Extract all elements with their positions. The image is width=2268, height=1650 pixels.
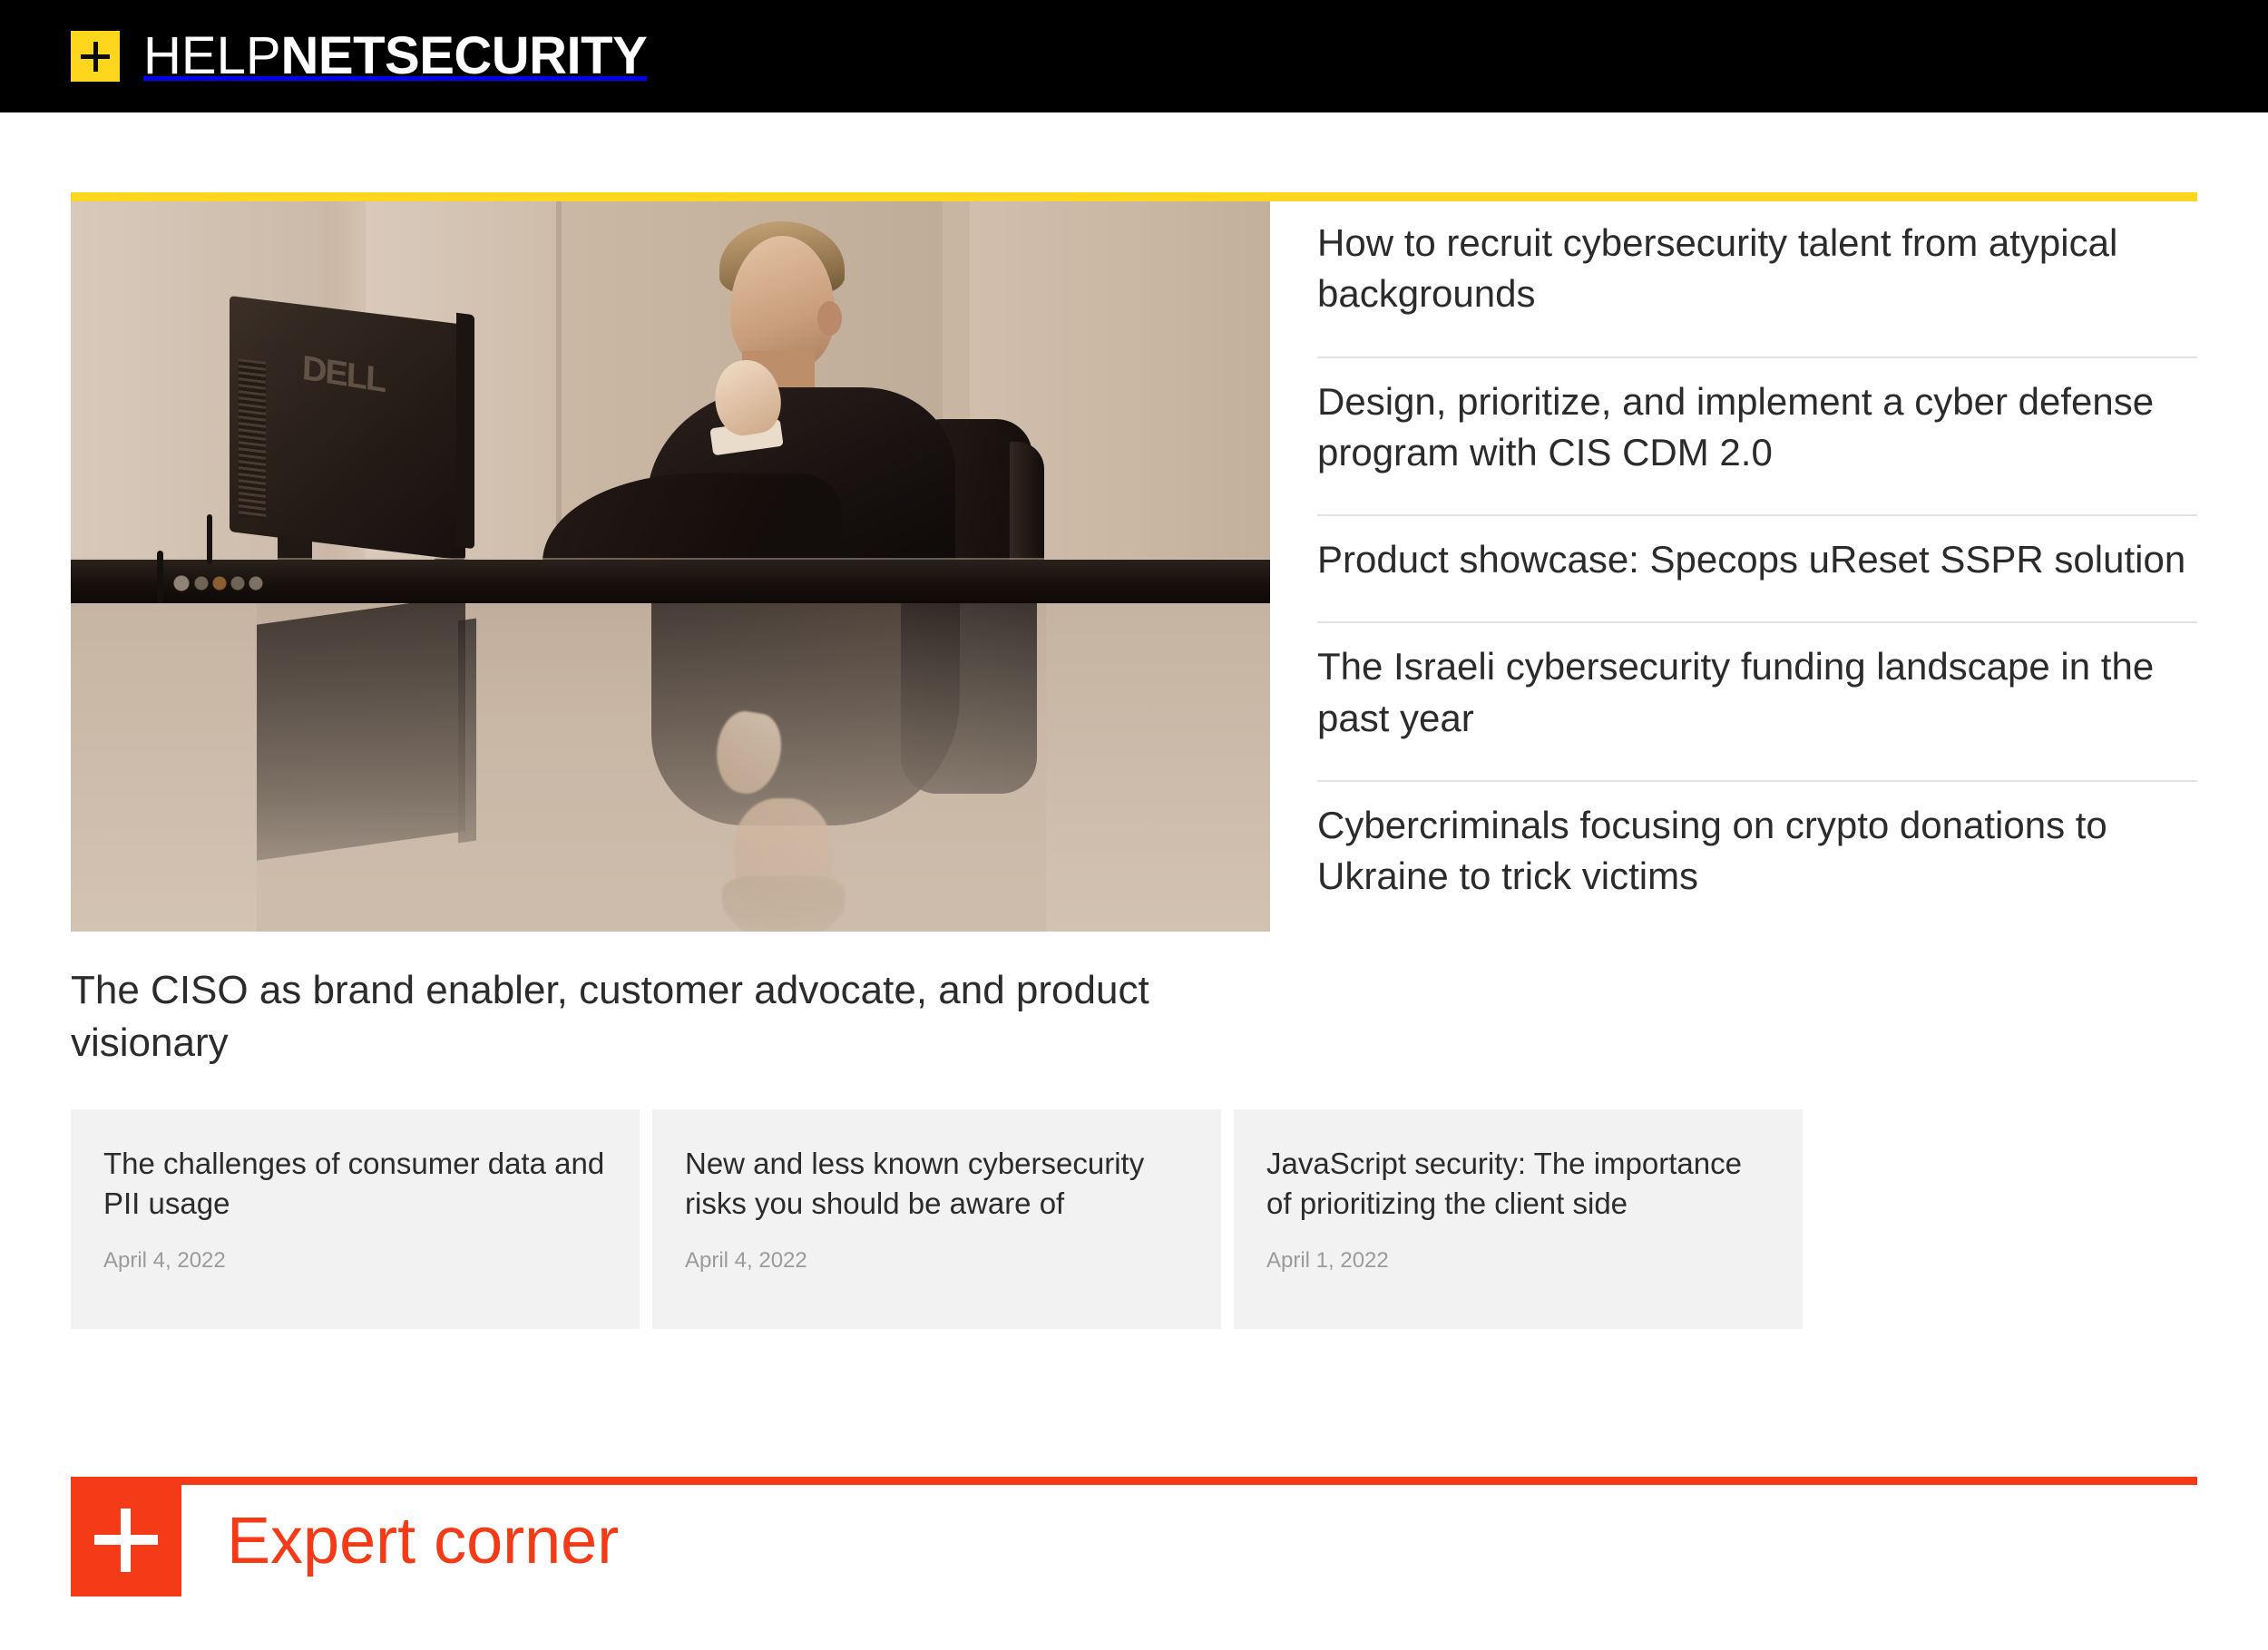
news-card-date: April 4, 2022 — [685, 1248, 1188, 1274]
side-article-item[interactable]: Design, prioritize, and implement a cybe… — [1317, 358, 2197, 517]
side-article-item[interactable]: Cybercriminals focusing on crypto donati… — [1317, 782, 2197, 903]
side-article-list: How to recruit cybersecurity talent from… — [1317, 201, 2197, 902]
site-logo[interactable]: HELPNETSECURITY — [71, 30, 647, 83]
feature-headline[interactable]: The CISO as brand enabler, customer advo… — [71, 964, 1270, 1069]
expert-corner-header[interactable]: Expert corner — [71, 1485, 2197, 1596]
news-card-date: April 1, 2022 — [1266, 1248, 1770, 1274]
news-card-title: New and less known cybersecurity risks y… — [685, 1144, 1188, 1224]
news-card[interactable]: The challenges of consumer data and PII … — [71, 1109, 640, 1329]
news-card-title: The challenges of consumer data and PII … — [103, 1144, 607, 1224]
site-header: HELPNETSECURITY — [0, 0, 2268, 112]
main-content: DELL — [71, 192, 2197, 1329]
logo-part-help: HELP — [143, 26, 281, 85]
news-card-row: The challenges of consumer data and PII … — [71, 1109, 2197, 1329]
logo-part-net: NET — [281, 26, 386, 85]
side-article-item[interactable]: The Israeli cybersecurity funding landsc… — [1317, 623, 2197, 782]
side-article-item[interactable]: How to recruit cybersecurity talent from… — [1317, 210, 2197, 358]
feature-story[interactable]: DELL — [71, 201, 1270, 1069]
plus-icon — [71, 31, 120, 82]
logo-part-security: SECURITY — [385, 26, 647, 85]
top-accent-rule — [71, 192, 2197, 201]
side-article-item[interactable]: Product showcase: Specops uReset SSPR so… — [1317, 516, 2197, 623]
card-row-spacer — [1815, 1109, 2197, 1329]
logo-wordmark: HELPNETSECURITY — [143, 30, 647, 83]
expert-corner-title: Expert corner — [227, 1508, 619, 1574]
news-card-title: JavaScript security: The importance of p… — [1266, 1144, 1770, 1224]
news-card[interactable]: New and less known cybersecurity risks y… — [652, 1109, 1221, 1329]
news-card[interactable]: JavaScript security: The importance of p… — [1234, 1109, 1803, 1329]
hero-image[interactable]: DELL — [71, 201, 1270, 932]
plus-icon — [71, 1485, 181, 1596]
feature-grid: DELL — [71, 201, 2197, 1069]
news-card-date: April 4, 2022 — [103, 1248, 607, 1274]
expert-corner-section: Expert corner — [71, 1477, 2197, 1596]
expert-corner-accent-rule — [71, 1477, 2197, 1485]
